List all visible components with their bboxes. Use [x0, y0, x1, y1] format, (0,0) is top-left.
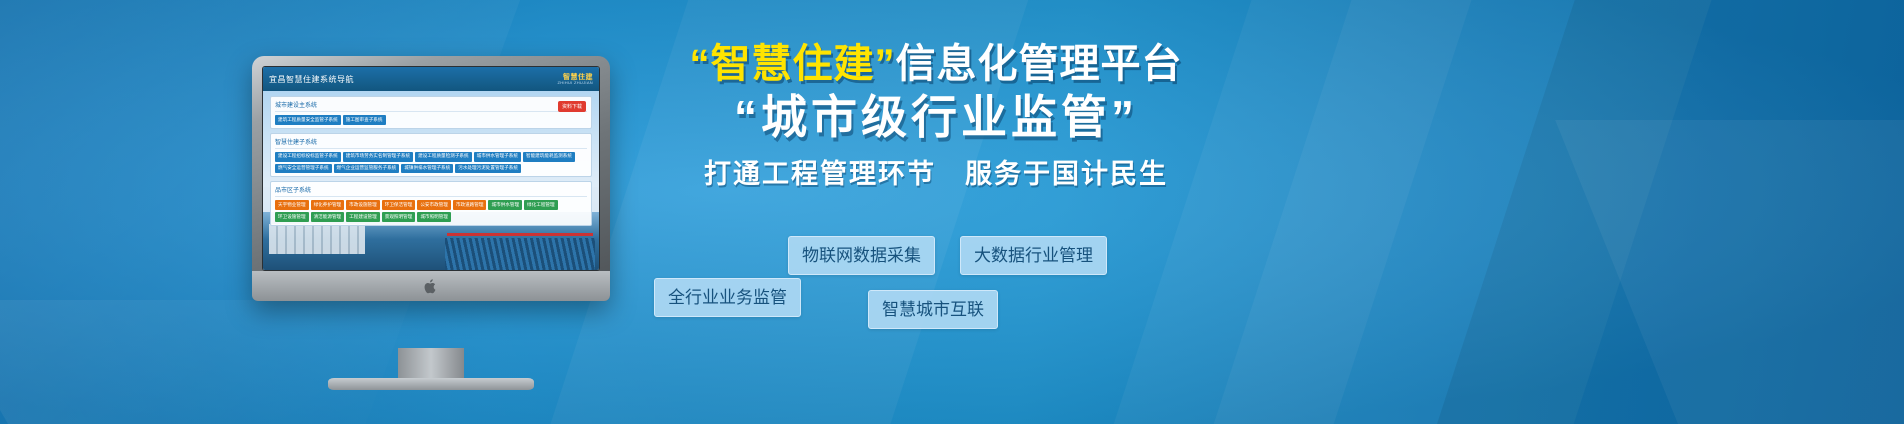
screen-panel-district: 品市区子系统 天宇物业管理 绿化养护管理 市政设施管理 环卫保洁管理 公安市政管… — [270, 181, 592, 226]
panel-heading: 城市建设主系统 — [275, 100, 587, 112]
chip-item[interactable]: 天宇物业管理 — [275, 200, 309, 210]
chip-item[interactable]: 市政设施管理 — [346, 200, 380, 210]
headline-block: “智慧住建”信息化管理平台 “城市级行业监管” 打通工程管理环节 服务于国计民生 — [656, 44, 1216, 191]
chip-item[interactable]: 施工图审查子系统 — [343, 115, 386, 125]
screen-logo: 智慧住建 ZHIHUI ZHUJIAN — [557, 74, 593, 85]
monitor-chin — [252, 271, 610, 301]
chip-item[interactable]: 智能建筑能耗监测系统 — [523, 152, 575, 162]
imac-monitor-mockup: 宜昌智慧住建系统导航 智慧住建 ZHIHUI ZHUJIAN 资料下载 城市建设… — [252, 56, 610, 301]
monitor-bezel: 宜昌智慧住建系统导航 智慧住建 ZHIHUI ZHUJIAN 资料下载 城市建设… — [252, 56, 610, 301]
chip-item[interactable]: 城市供水管理 — [488, 200, 522, 210]
panel-chip-list: 建筑工程质量安全监管子系统 施工图审查子系统 — [275, 115, 587, 125]
chip-item[interactable]: 绿化工程管理 — [524, 200, 558, 210]
chip-item[interactable]: 工程建设管理 — [346, 212, 380, 222]
chip-item[interactable]: 公安市政管理 — [417, 200, 451, 210]
feature-tag-iot[interactable]: 物联网数据采集 — [788, 236, 935, 275]
feature-tag-supervision[interactable]: 全行业业务监管 — [654, 278, 801, 317]
chip-item[interactable]: 城镇供排水管理子系统 — [401, 164, 453, 174]
screen-body: 资料下载 城市建设主系统 建筑工程质量安全监管子系统 施工图审查子系统 智慧住建… — [263, 91, 599, 271]
chip-item[interactable]: 燃气安全运营管理子系统 — [275, 164, 332, 174]
screen-app-title: 宜昌智慧住建系统导航 — [269, 74, 354, 85]
screen-bridge-graphic — [447, 224, 593, 246]
chip-item[interactable]: 环卫保洁管理 — [382, 200, 416, 210]
chip-item[interactable]: 建筑市场劳务实名制管理子系统 — [343, 152, 413, 162]
screen-logo-sub: ZHIHUI ZHUJIAN — [557, 81, 593, 85]
monitor-screen: 宜昌智慧住建系统导航 智慧住建 ZHIHUI ZHUJIAN 资料下载 城市建设… — [262, 66, 600, 271]
chip-item[interactable]: 市政道路管理 — [453, 200, 487, 210]
chip-item[interactable]: 建设工程招标投标监管子系统 — [275, 152, 341, 162]
chip-item[interactable]: 燃气企业运营监管服务子系统 — [334, 164, 400, 174]
chip-item[interactable]: 污水处理污泥处置管理子系统 — [455, 164, 521, 174]
headline-line-2: “城市级行业监管” — [656, 94, 1216, 140]
headline-highlight: “智慧住建” — [690, 42, 896, 86]
monitor-stand-neck — [398, 348, 464, 382]
promo-banner: 宜昌智慧住建系统导航 智慧住建 ZHIHUI ZHUJIAN 资料下载 城市建设… — [0, 0, 1904, 424]
chip-item[interactable]: 景观照明管理 — [382, 212, 416, 222]
headline-line-1: “智慧住建”信息化管理平台 — [656, 44, 1216, 84]
chip-item[interactable]: 建筑工程质量安全监管子系统 — [275, 115, 341, 125]
headline-subtitle: 打通工程管理环节 服务于国计民生 — [656, 152, 1216, 191]
panel-chip-list: 建设工程招标投标监管子系统 建筑市场劳务实名制管理子系统 建设工程质量检测子系统… — [275, 152, 587, 174]
monitor-stand-base — [328, 378, 534, 390]
panel-heading: 智慧住建子系统 — [275, 137, 587, 149]
feature-tag-group: 物联网数据采集 大数据行业管理 全行业业务监管 智慧城市互联 — [640, 232, 1240, 342]
feature-tag-bigdata[interactable]: 大数据行业管理 — [960, 236, 1107, 275]
chip-item[interactable]: 建设工程质量检测子系统 — [415, 152, 472, 162]
screen-panel-city: 资料下载 城市建设主系统 建筑工程质量安全监管子系统 施工图审查子系统 — [270, 96, 592, 129]
chip-item[interactable]: 城市供水管理子系统 — [474, 152, 521, 162]
apple-logo-icon — [424, 278, 438, 295]
download-button[interactable]: 资料下载 — [558, 101, 586, 112]
chip-item[interactable]: 清洁能源管理 — [311, 212, 345, 222]
chip-item[interactable]: 环卫设施管理 — [275, 212, 309, 222]
chip-item[interactable]: 城市照明管理 — [417, 212, 451, 222]
chip-item[interactable]: 绿化养护管理 — [311, 200, 345, 210]
panel-chip-list: 天宇物业管理 绿化养护管理 市政设施管理 环卫保洁管理 公安市政管理 市政道路管… — [275, 200, 587, 222]
headline-rest: 信息化管理平台 — [896, 42, 1183, 86]
feature-tag-smartcity[interactable]: 智慧城市互联 — [868, 290, 998, 329]
panel-heading: 品市区子系统 — [275, 185, 587, 197]
screen-header-bar: 宜昌智慧住建系统导航 智慧住建 ZHIHUI ZHUJIAN — [263, 67, 599, 91]
screen-panel-smart: 智慧住建子系统 建设工程招标投标监管子系统 建筑市场劳务实名制管理子系统 建设工… — [270, 133, 592, 178]
